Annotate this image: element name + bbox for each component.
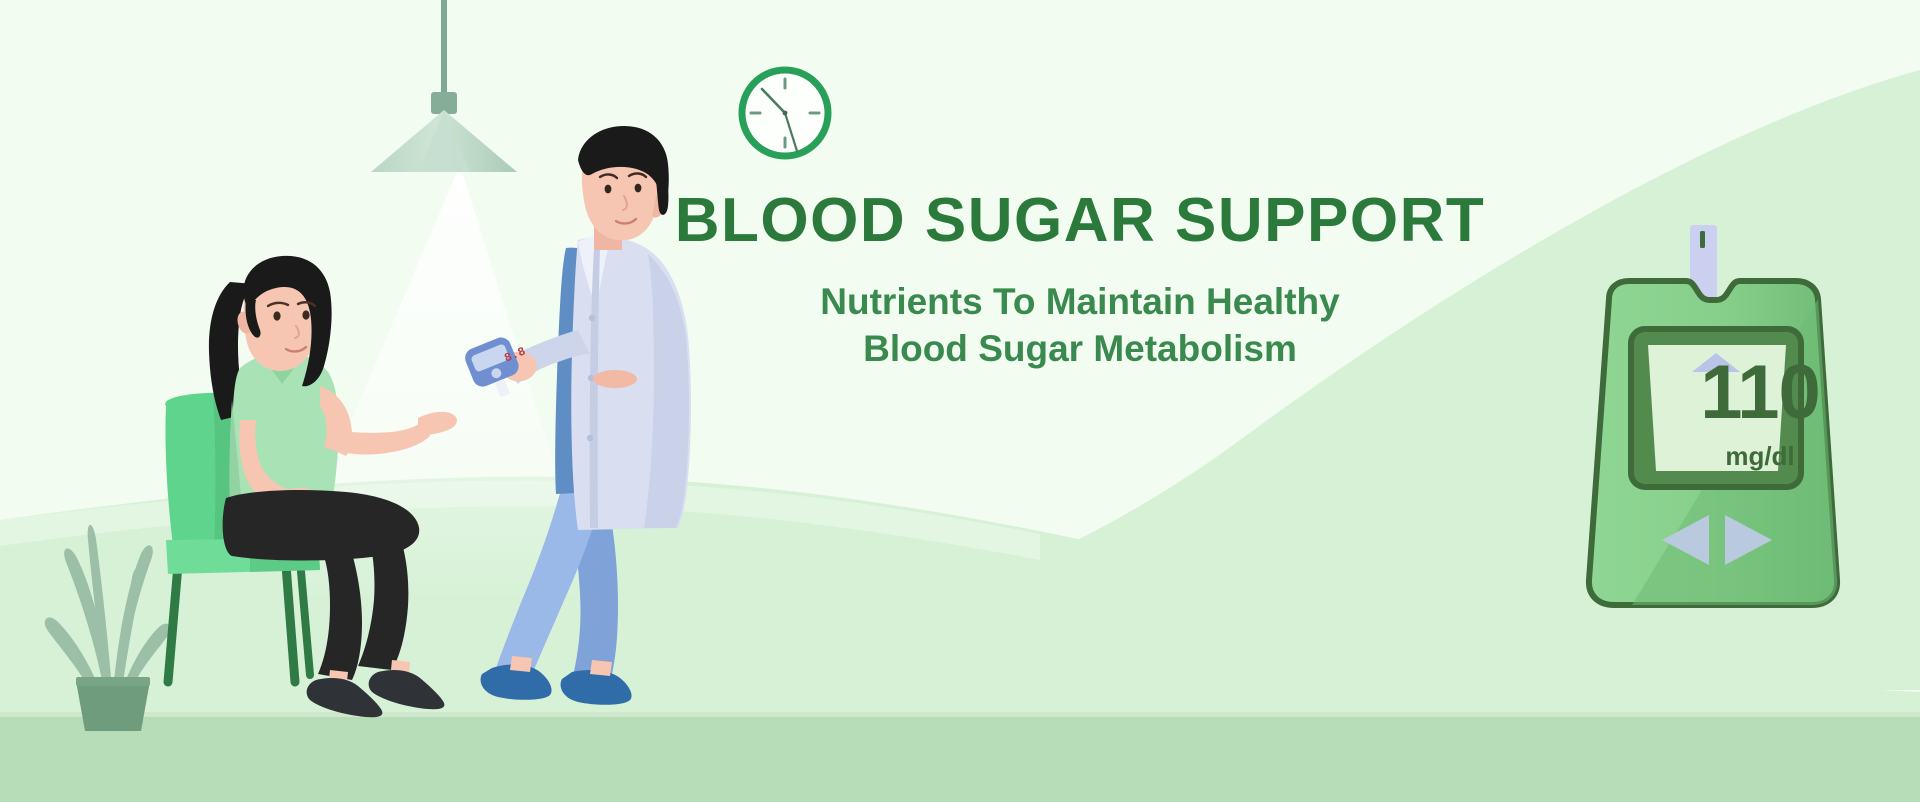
subtitle-line-2: Blood Sugar Metabolism	[630, 325, 1530, 372]
subtitle-line-1: Nutrients To Maintain Healthy	[630, 278, 1530, 325]
glucometer-device[interactable]	[0, 0, 1920, 802]
page-title: BLOOD SUGAR SUPPORT	[630, 190, 1530, 252]
blood-sugar-support-banner: 110 mg/dl 8.8 BLOOD SUGAR SUPPORT Nutrie…	[0, 0, 1920, 802]
glucometer-reading: 110	[1640, 355, 1880, 431]
glucometer-unit: mg/dl	[1640, 443, 1880, 469]
banner-text-block: BLOOD SUGAR SUPPORT Nutrients To Maintai…	[630, 190, 1530, 373]
